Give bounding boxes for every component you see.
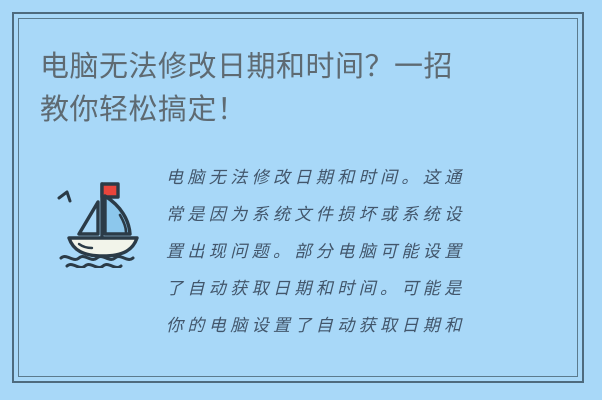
article-body-line: 了自动获取日期和时间。可能是	[166, 271, 520, 308]
boat-hull	[69, 238, 137, 256]
article-content-row: 电脑无法修改日期和时间。这通 常是因为系统文件损坏或系统设 置出现问题。部分电脑…	[40, 160, 520, 345]
fore-sail	[79, 202, 98, 234]
page-title: 电脑无法修改日期和时间？一招 教你轻松搞定！	[40, 46, 510, 132]
sailboat-icon	[45, 168, 155, 268]
page-title-line-1: 电脑无法修改日期和时间？一招	[40, 46, 510, 89]
flying-bird	[59, 192, 70, 201]
article-card: 电脑无法修改日期和时间？一招 教你轻松搞定！	[0, 0, 602, 400]
article-body-line: 电脑无法修改日期和时间。这通	[166, 160, 520, 197]
water-waves	[61, 257, 133, 260]
water-waves-second	[67, 265, 121, 268]
article-body: 电脑无法修改日期和时间。这通 常是因为系统文件损坏或系统设 置出现问题。部分电脑…	[160, 160, 520, 345]
sailboat-illustration	[40, 160, 160, 268]
page-title-line-2: 教你轻松搞定！	[40, 89, 510, 132]
article-body-line: 置出现问题。部分电脑可能设置	[166, 234, 520, 271]
article-body-line: 你的电脑设置了自动获取日期和	[166, 308, 520, 345]
article-body-line: 常是因为系统文件损坏或系统设	[166, 197, 520, 234]
